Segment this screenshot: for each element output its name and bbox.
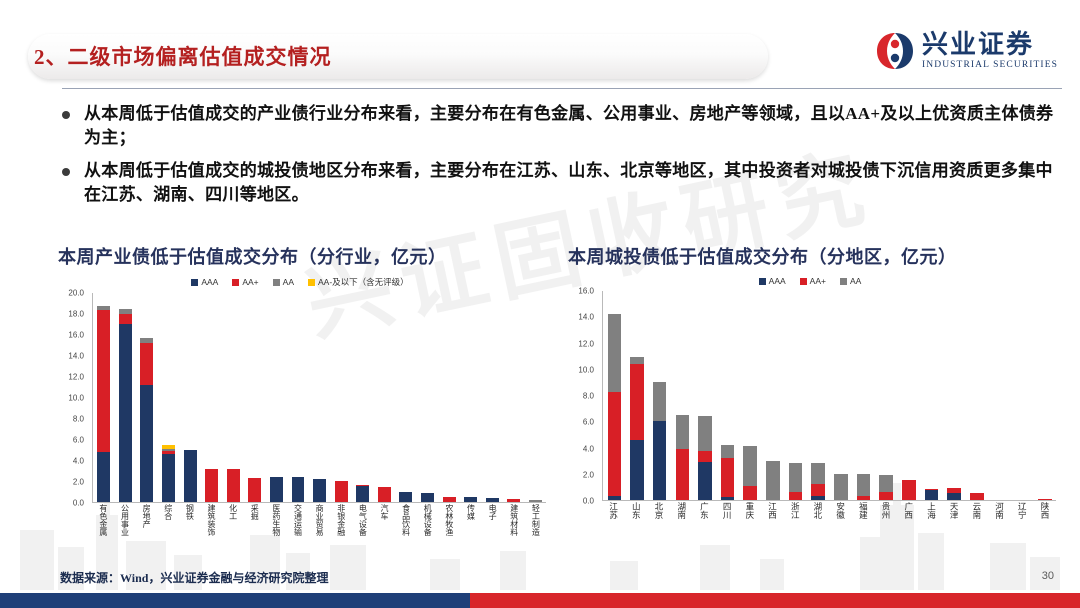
chart-title: 本周城投债低于估值成交分布（分地区，亿元） [560, 243, 1060, 269]
legend-label: AA+ [810, 276, 826, 286]
bar-segment [1038, 499, 1052, 500]
bar [721, 445, 735, 500]
y-axis-tick-label: 14.0 [578, 313, 594, 322]
x-axis-tick-label: 钢铁 [185, 504, 193, 536]
bar-segment [698, 416, 712, 451]
x-axis-tick-label: 浙江 [791, 502, 800, 519]
bar-segment [721, 458, 735, 497]
x-axis-tick-label: 安徽 [836, 502, 845, 519]
x-axis-tick: 有色金属 [92, 504, 114, 536]
industrial-bond-chart: 本周产业债低于估值成交分布（分行业，亿元） AAAAA+AAAA-及以下（含无评… [50, 243, 550, 518]
x-axis-tick-label: 公用事业 [120, 504, 128, 536]
x-axis-tick-label: 采掘 [250, 504, 258, 536]
bar [766, 461, 780, 500]
bar-slot [222, 293, 244, 502]
x-axis-tick-label: 医药生物 [272, 504, 280, 536]
bar-slot [438, 293, 460, 502]
urban-investment-bond-chart: 本周城投债低于估值成交分布（分地区，亿元） AAAAA+AA 0.02.04.0… [560, 243, 1060, 516]
x-axis-tick: 交通运输 [287, 504, 309, 536]
x-axis-tick: 广西 [897, 502, 920, 519]
bar [227, 469, 240, 502]
x-axis-tick-label: 辽宁 [1018, 502, 1027, 519]
y-axis: 0.02.04.06.08.010.012.014.016.0 [560, 291, 598, 516]
x-axis-tick-label: 上海 [927, 502, 936, 519]
bar-slot [525, 293, 547, 502]
bar [970, 493, 984, 500]
x-axis-tick-label: 电气设备 [358, 504, 366, 536]
bar-segment [292, 477, 305, 502]
bar-segment [119, 324, 132, 503]
x-axis-tick-label: 非银金融 [337, 504, 345, 536]
bar-segment [676, 449, 690, 500]
bar [140, 338, 153, 502]
legend-item: AA [273, 276, 294, 288]
y-axis-tick-label: 2.0 [583, 470, 594, 479]
bar [97, 306, 110, 502]
bar-segment [698, 462, 712, 500]
legend-item: AA+ [232, 276, 258, 288]
bar-slot [762, 291, 785, 500]
bar-segment [399, 492, 412, 503]
bar-slot [852, 291, 875, 500]
list-item: 从本周低于估值成交的产业债行业分布来看，主要分布在有色金属、公用事业、房地产等领… [62, 102, 1062, 150]
bottom-bar-red [470, 593, 1080, 608]
bar [464, 497, 477, 502]
bar-slot [898, 291, 921, 500]
bar [857, 474, 871, 500]
bar [902, 480, 916, 500]
legend-label: AAA [201, 277, 218, 287]
bar [925, 489, 939, 500]
bar-slot [287, 293, 309, 502]
x-axis-tick: 四川 [716, 502, 739, 519]
y-axis-tick-label: 8.0 [583, 392, 594, 401]
y-axis-tick-label: 16.0 [578, 287, 594, 296]
x-axis-tick: 非银金融 [330, 504, 352, 536]
bar-slot [648, 291, 671, 500]
bar [119, 309, 132, 502]
x-axis-tick: 建筑材料 [503, 504, 525, 536]
bar-segment [698, 451, 712, 462]
bullet-dot-icon [62, 168, 70, 176]
x-axis-tick-label: 山东 [632, 502, 641, 519]
bullet-dot-icon [62, 111, 70, 119]
data-source-note: 数据来源：Wind，兴业证券金融与经济研究院整理 [60, 569, 328, 586]
bar-segment [811, 463, 825, 484]
x-axis-tick: 食品饮料 [395, 504, 417, 536]
bar-slot [875, 291, 898, 500]
header-divider [62, 88, 1062, 89]
bar-segment [766, 461, 780, 500]
bar-segment [97, 452, 110, 502]
bar-segment [356, 486, 369, 502]
bar-slot [93, 293, 115, 502]
x-axis-tick: 辽宁 [1011, 502, 1034, 519]
x-axis-tick: 湖南 [670, 502, 693, 519]
legend-label: AA [283, 277, 294, 287]
x-axis-tick: 机械设备 [416, 504, 438, 536]
logo-english-name: INDUSTRIAL SECURITIES [922, 60, 1058, 70]
bar [313, 479, 326, 502]
bar-segment [834, 474, 848, 500]
bar-slot [352, 293, 374, 502]
x-axis-tick: 房地产 [135, 504, 157, 536]
x-axis-tick-label: 食品饮料 [402, 504, 410, 536]
bar [356, 485, 369, 502]
x-axis-tick-label: 陕西 [1040, 502, 1049, 519]
legend-swatch-icon [273, 279, 280, 286]
x-axis-tick: 电子 [481, 504, 503, 536]
bar [879, 475, 893, 500]
page-number: 30 [1042, 570, 1054, 582]
x-axis-tick: 福建 [852, 502, 875, 519]
x-axis-tick-label: 广东 [700, 502, 709, 519]
bar-slot [374, 293, 396, 502]
bar-slot [1011, 291, 1034, 500]
x-axis-tick: 建筑装饰 [200, 504, 222, 536]
bar-slot [784, 291, 807, 500]
bar-segment [811, 484, 825, 496]
bar-segment [811, 496, 825, 500]
y-axis-tick-label: 10.0 [578, 365, 594, 374]
bar-slot [179, 293, 201, 502]
bar-segment [378, 487, 391, 502]
bar-slot [966, 291, 989, 500]
bar-segment [743, 486, 757, 500]
y-axis-tick-label: 10.0 [68, 394, 84, 403]
bar-segment [970, 493, 984, 500]
x-axis-tick: 传媒 [460, 504, 482, 536]
bar [248, 478, 261, 502]
bar-segment [630, 364, 644, 440]
bar-segment [227, 469, 240, 502]
industrial-securities-logo-icon [875, 31, 915, 71]
bar-segment [653, 382, 667, 421]
x-axis-tick: 湖北 [806, 502, 829, 519]
bar-segment [676, 415, 690, 449]
bar-segment [335, 481, 348, 502]
x-axis-tick: 公用事业 [114, 504, 136, 536]
x-axis-tick: 农林牧渔 [438, 504, 460, 536]
x-axis-tick-label: 汽车 [380, 504, 388, 536]
bar-slot [136, 293, 158, 502]
x-axis-tick: 贵州 [874, 502, 897, 519]
x-axis-tick: 采掘 [243, 504, 265, 536]
bar [205, 469, 218, 502]
legend-label: AA [850, 276, 861, 286]
bar-segment [857, 496, 871, 500]
bar [486, 498, 499, 502]
legend-swatch-icon [840, 278, 847, 285]
bar-slot [671, 291, 694, 500]
x-axis: 江苏山东北京湖南广东四川重庆江西浙江湖北安徽福建贵州广西上海天津云南河南辽宁陕西 [602, 502, 1056, 519]
bar [421, 493, 434, 502]
bar-segment [529, 500, 542, 502]
bar-segment [857, 474, 871, 496]
bar-segment [630, 440, 644, 500]
bar [270, 477, 283, 502]
x-axis-tick-label: 云南 [972, 502, 981, 519]
x-axis-tick: 综合 [157, 504, 179, 536]
bar [653, 382, 667, 500]
bar-segment [879, 492, 893, 500]
x-axis-tick: 上海 [920, 502, 943, 519]
y-axis-tick-label: 14.0 [68, 352, 84, 361]
bar-segment [313, 479, 326, 502]
x-axis-tick: 江西 [761, 502, 784, 519]
legend-item: AA+ [800, 276, 826, 286]
bar-segment [608, 392, 622, 496]
y-axis-tick-label: 6.0 [73, 436, 84, 445]
y-axis-tick-label: 4.0 [73, 457, 84, 466]
y-axis-tick-label: 16.0 [68, 331, 84, 340]
bar-slot [626, 291, 649, 500]
bar-slot [920, 291, 943, 500]
list-item: 从本周低于估值成交的城投债地区分布来看，主要分布在江苏、山东、北京等地区，其中投… [62, 159, 1062, 207]
x-axis-tick: 重庆 [738, 502, 761, 519]
chart-legend: AAAAA+AA [560, 276, 1060, 286]
x-axis-tick: 云南 [965, 502, 988, 519]
legend-label: AA-及以下（含无评级） [318, 276, 409, 288]
bar-slot [309, 293, 331, 502]
y-axis-tick-label: 6.0 [583, 418, 594, 427]
bar [399, 492, 412, 503]
bar [162, 445, 175, 502]
legend-swatch-icon [232, 279, 239, 286]
bar [834, 474, 848, 500]
bar [507, 499, 520, 502]
bar-segment [140, 385, 153, 502]
y-axis-tick-label: 12.0 [578, 339, 594, 348]
bar-segment [205, 469, 218, 502]
chart-legend: AAAAA+AAAA-及以下（含无评级） [50, 276, 550, 288]
bar [947, 488, 961, 500]
legend-item: AAA [191, 276, 218, 288]
bar-segment [925, 490, 939, 500]
x-axis-tick-label: 交通运输 [293, 504, 301, 536]
bar [630, 357, 644, 500]
bar [529, 500, 542, 502]
x-axis-tick-label: 建筑材料 [510, 504, 518, 536]
x-axis-tick: 天津 [943, 502, 966, 519]
x-axis-tick: 陕西 [1033, 502, 1056, 519]
legend-swatch-icon [759, 278, 766, 285]
bar-segment [119, 314, 132, 323]
bar-slot [481, 293, 503, 502]
bar-segment [464, 497, 477, 502]
x-axis-tick-label: 北京 [655, 502, 664, 519]
bar-group [603, 291, 1056, 500]
bar [1038, 499, 1052, 500]
bottom-bar [0, 593, 1080, 608]
plot-area [92, 293, 546, 503]
legend-label: AA+ [242, 277, 258, 287]
x-axis-tick-label: 传媒 [466, 504, 474, 536]
x-axis-tick-label: 机械设备 [423, 504, 431, 536]
x-axis-tick-label: 江苏 [609, 502, 618, 519]
x-axis: 有色金属公用事业房地产综合钢铁建筑装饰化工采掘医药生物交通运输商业贸易非银金融电… [92, 504, 546, 536]
bar-segment [162, 454, 175, 502]
x-axis-tick-label: 广西 [904, 502, 913, 519]
x-axis-tick-label: 福建 [859, 502, 868, 519]
x-axis-tick: 江苏 [602, 502, 625, 519]
bar-segment [421, 493, 434, 502]
x-axis-tick: 浙江 [784, 502, 807, 519]
chart-plot: 0.02.04.06.08.010.012.014.016.018.020.0 … [50, 293, 550, 518]
bar-slot [603, 291, 626, 500]
legend-item: AAA [759, 276, 786, 286]
y-axis-tick-label: 0.0 [583, 497, 594, 506]
y-axis-tick-label: 4.0 [583, 444, 594, 453]
x-axis-tick-label: 农林牧渔 [445, 504, 453, 536]
x-axis-tick-label: 轻工制造 [531, 504, 539, 536]
bar-segment [140, 343, 153, 385]
x-axis-tick-label: 重庆 [745, 502, 754, 519]
y-axis-tick-label: 12.0 [68, 373, 84, 382]
bar-slot [244, 293, 266, 502]
x-axis-tick: 电气设备 [352, 504, 374, 536]
legend-label: AAA [769, 276, 786, 286]
y-axis-tick-label: 0.0 [73, 499, 84, 508]
logo-chinese-name: 兴业证券 [922, 32, 1058, 59]
bar [608, 314, 622, 500]
x-axis-tick-label: 商业贸易 [315, 504, 323, 536]
y-axis: 0.02.04.06.08.010.012.014.016.018.020.0 [50, 293, 88, 518]
chart-title: 本周产业债低于估值成交分布（分行业，亿元） [50, 243, 550, 269]
bar-group [93, 293, 546, 502]
x-axis-tick: 轻工制造 [525, 504, 547, 536]
bar-segment [608, 496, 622, 500]
y-axis-tick-label: 8.0 [73, 415, 84, 424]
x-axis-tick: 汽车 [373, 504, 395, 536]
x-axis-tick-label: 河南 [995, 502, 1004, 519]
y-axis-tick-label: 2.0 [73, 478, 84, 487]
bar-segment [248, 478, 261, 502]
x-axis-tick-label: 房地产 [142, 504, 150, 536]
bottom-bar-blue [0, 593, 470, 608]
bar-slot [716, 291, 739, 500]
x-axis-tick: 广东 [693, 502, 716, 519]
bar-segment [902, 480, 916, 500]
bullet-text: 从本周低于估值成交的城投债地区分布来看，主要分布在江苏、山东、北京等地区，其中投… [84, 159, 1062, 207]
bar [292, 477, 305, 502]
x-axis-tick-label: 贵州 [882, 502, 891, 519]
bar-slot [330, 293, 352, 502]
x-axis-tick: 山东 [625, 502, 648, 519]
x-axis-tick: 北京 [647, 502, 670, 519]
bar-segment [608, 314, 622, 393]
x-axis-tick: 河南 [988, 502, 1011, 519]
bar-segment [653, 421, 667, 500]
bar-slot [988, 291, 1011, 500]
bullet-text: 从本周低于估值成交的产业债行业分布来看，主要分布在有色金属、公用事业、房地产等领… [84, 102, 1062, 150]
x-axis-tick-label: 电子 [488, 504, 496, 536]
bar-slot [739, 291, 762, 500]
bar-segment [947, 493, 961, 500]
slide-root: 兴证固收研究 2、二级市场偏离估值成交情况 [0, 0, 1080, 608]
bar [378, 487, 391, 502]
legend-swatch-icon [800, 278, 807, 285]
bar-segment [270, 477, 283, 502]
x-axis-tick: 化工 [222, 504, 244, 536]
x-axis-tick-label: 湖南 [677, 502, 686, 519]
x-axis-tick-label: 建筑装饰 [207, 504, 215, 536]
bar-slot [417, 293, 439, 502]
legend-item: AA [840, 276, 861, 286]
x-axis-tick: 安徽 [829, 502, 852, 519]
bar [789, 463, 803, 500]
bar-slot [694, 291, 717, 500]
bar-segment [486, 498, 499, 502]
bar-slot [1033, 291, 1056, 500]
bar [335, 481, 348, 502]
page-title: 2、二级市场偏离估值成交情况 [34, 41, 332, 71]
bar-segment [789, 463, 803, 492]
legend-item: AA-及以下（含无评级） [308, 276, 409, 288]
company-logo: 兴业证券 INDUSTRIAL SECURITIES [875, 31, 1058, 71]
x-axis-tick-label: 化工 [229, 504, 237, 536]
x-axis-tick: 商业贸易 [308, 504, 330, 536]
bar [184, 450, 197, 503]
bar-slot [395, 293, 417, 502]
x-axis-tick-label: 四川 [723, 502, 732, 519]
x-axis-tick-label: 江西 [768, 502, 777, 519]
x-axis-tick: 钢铁 [179, 504, 201, 536]
bar [443, 497, 456, 502]
x-axis-tick: 医药生物 [265, 504, 287, 536]
bar-segment [721, 497, 735, 500]
plot-area [602, 291, 1056, 501]
legend-swatch-icon [308, 279, 315, 286]
bar-segment [443, 497, 456, 502]
y-axis-tick-label: 20.0 [68, 289, 84, 298]
bar-slot [158, 293, 180, 502]
bar [698, 416, 712, 500]
bar-slot [503, 293, 525, 502]
bar-slot [830, 291, 853, 500]
x-axis-tick-label: 有色金属 [99, 504, 107, 536]
bar [811, 463, 825, 500]
x-axis-tick-label: 湖北 [813, 502, 822, 519]
x-axis-tick-label: 综合 [164, 504, 172, 536]
y-axis-tick-label: 18.0 [68, 310, 84, 319]
bar-slot [943, 291, 966, 500]
bar-segment [743, 446, 757, 485]
bar-segment [184, 450, 197, 503]
bar-segment [879, 475, 893, 492]
bar [743, 446, 757, 500]
bar-segment [97, 310, 110, 452]
bar-segment [507, 499, 520, 502]
bar [676, 415, 690, 500]
bullet-list: 从本周低于估值成交的产业债行业分布来看，主要分布在有色金属、公用事业、房地产等领… [62, 102, 1062, 217]
bar-slot [266, 293, 288, 502]
bar-segment [789, 492, 803, 500]
chart-plot: 0.02.04.06.08.010.012.014.016.0 江苏山东北京湖南… [560, 291, 1060, 516]
bar-slot [201, 293, 223, 502]
x-axis-tick-label: 天津 [950, 502, 959, 519]
bar-slot [115, 293, 137, 502]
bar-segment [721, 445, 735, 458]
bar-slot [460, 293, 482, 502]
bar-slot [807, 291, 830, 500]
legend-swatch-icon [191, 279, 198, 286]
